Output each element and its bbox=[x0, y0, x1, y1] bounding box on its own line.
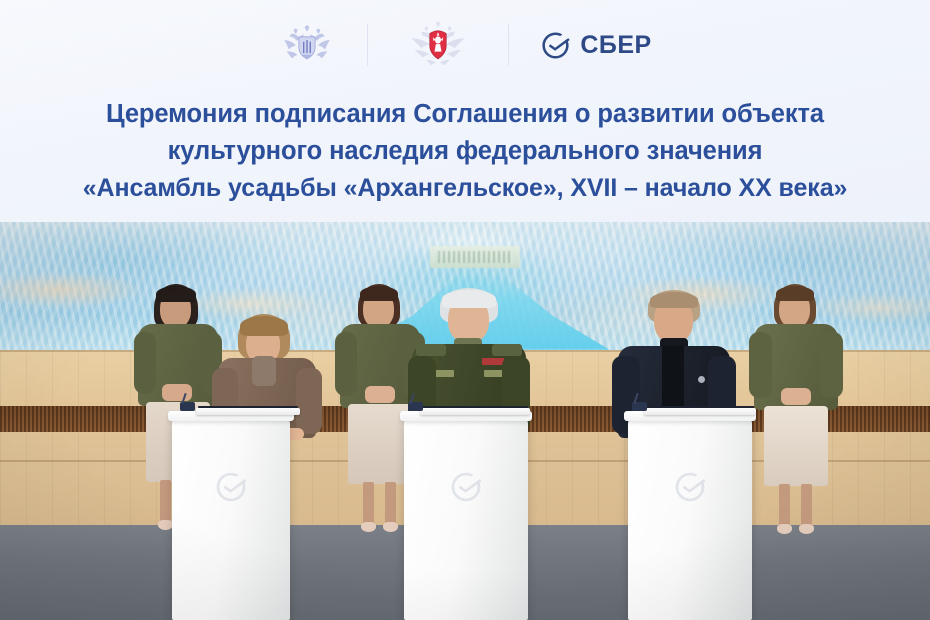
page-title: Церемония подписания Соглашения о развит… bbox=[0, 96, 930, 207]
sber-logo: СБЕР bbox=[509, 16, 684, 74]
sber-check-icon bbox=[214, 470, 248, 504]
title-line-3: «Ансамбль усадьбы «Архангельское», XVII … bbox=[0, 170, 930, 207]
pen-stand-center bbox=[408, 402, 423, 411]
document-right bbox=[644, 408, 756, 415]
document-center bbox=[420, 408, 530, 415]
logo-row: СБЕР bbox=[0, 14, 930, 76]
ceremony-screenshot: СБЕР Церемония подписания Соглашения о р… bbox=[0, 0, 930, 620]
sber-check-icon bbox=[449, 470, 483, 504]
title-line-2: культурного наследия федерального значен… bbox=[0, 133, 930, 170]
assistant-right bbox=[748, 284, 844, 538]
header-panel: СБЕР Церемония подписания Соглашения о р… bbox=[0, 0, 930, 226]
sber-check-icon bbox=[673, 470, 707, 504]
podium-center bbox=[404, 418, 528, 620]
podium-right bbox=[628, 418, 752, 620]
pen-stand-right bbox=[632, 402, 647, 411]
sber-check-icon bbox=[540, 30, 571, 61]
pen-stand-left bbox=[180, 402, 195, 411]
document-left bbox=[196, 408, 300, 415]
sber-wordmark: СБЕР bbox=[580, 33, 651, 58]
title-line-1: Церемония подписания Соглашения о развит… bbox=[0, 96, 930, 133]
podium-left bbox=[172, 418, 290, 620]
ceremony-photo bbox=[0, 222, 930, 620]
ministry-of-culture-emblem bbox=[247, 16, 367, 74]
ministry-of-defence-emblem bbox=[368, 16, 508, 74]
